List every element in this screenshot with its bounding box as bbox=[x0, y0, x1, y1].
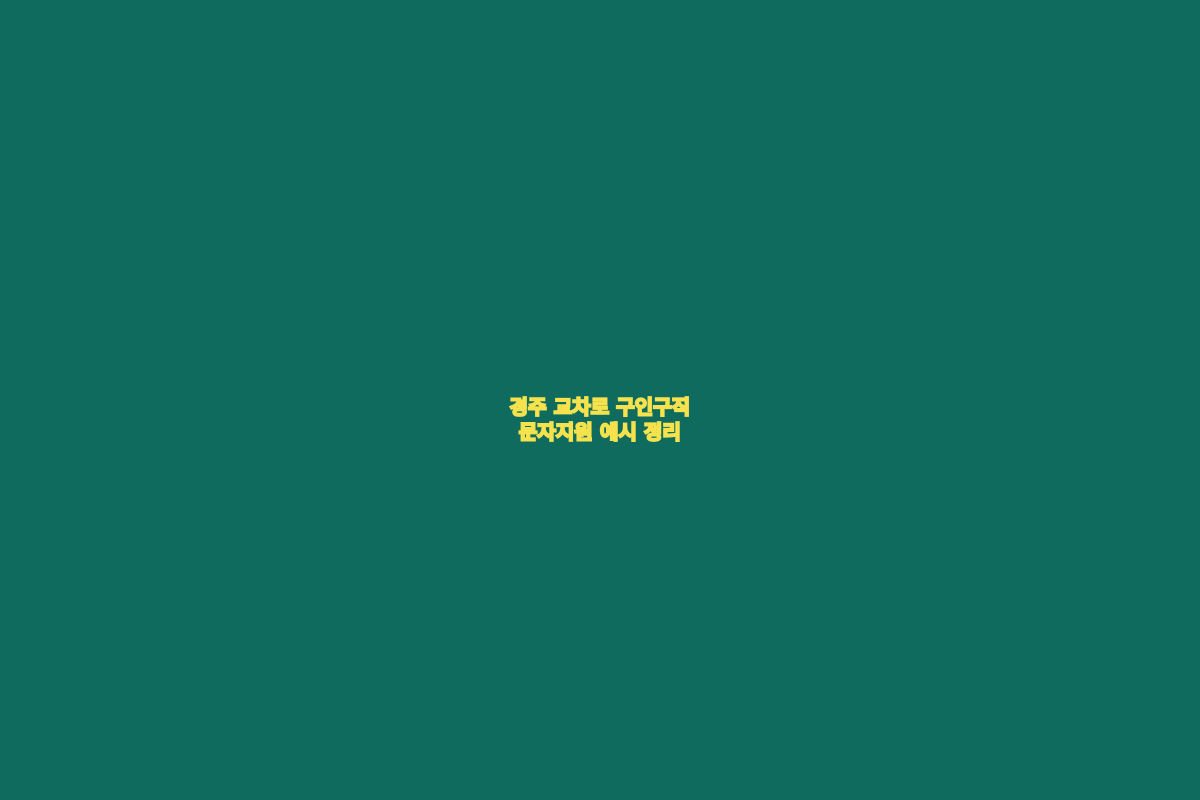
thumbnail-card: 경주 교차로 구인구직 문자지원 예시 정리 bbox=[0, 0, 1200, 800]
title-block: 경주 교차로 구인구직 문자지원 예시 정리 bbox=[0, 395, 1200, 445]
title-line-2: 문자지원 예시 정리 bbox=[0, 420, 1200, 445]
title-line-1: 경주 교차로 구인구직 bbox=[0, 395, 1200, 420]
